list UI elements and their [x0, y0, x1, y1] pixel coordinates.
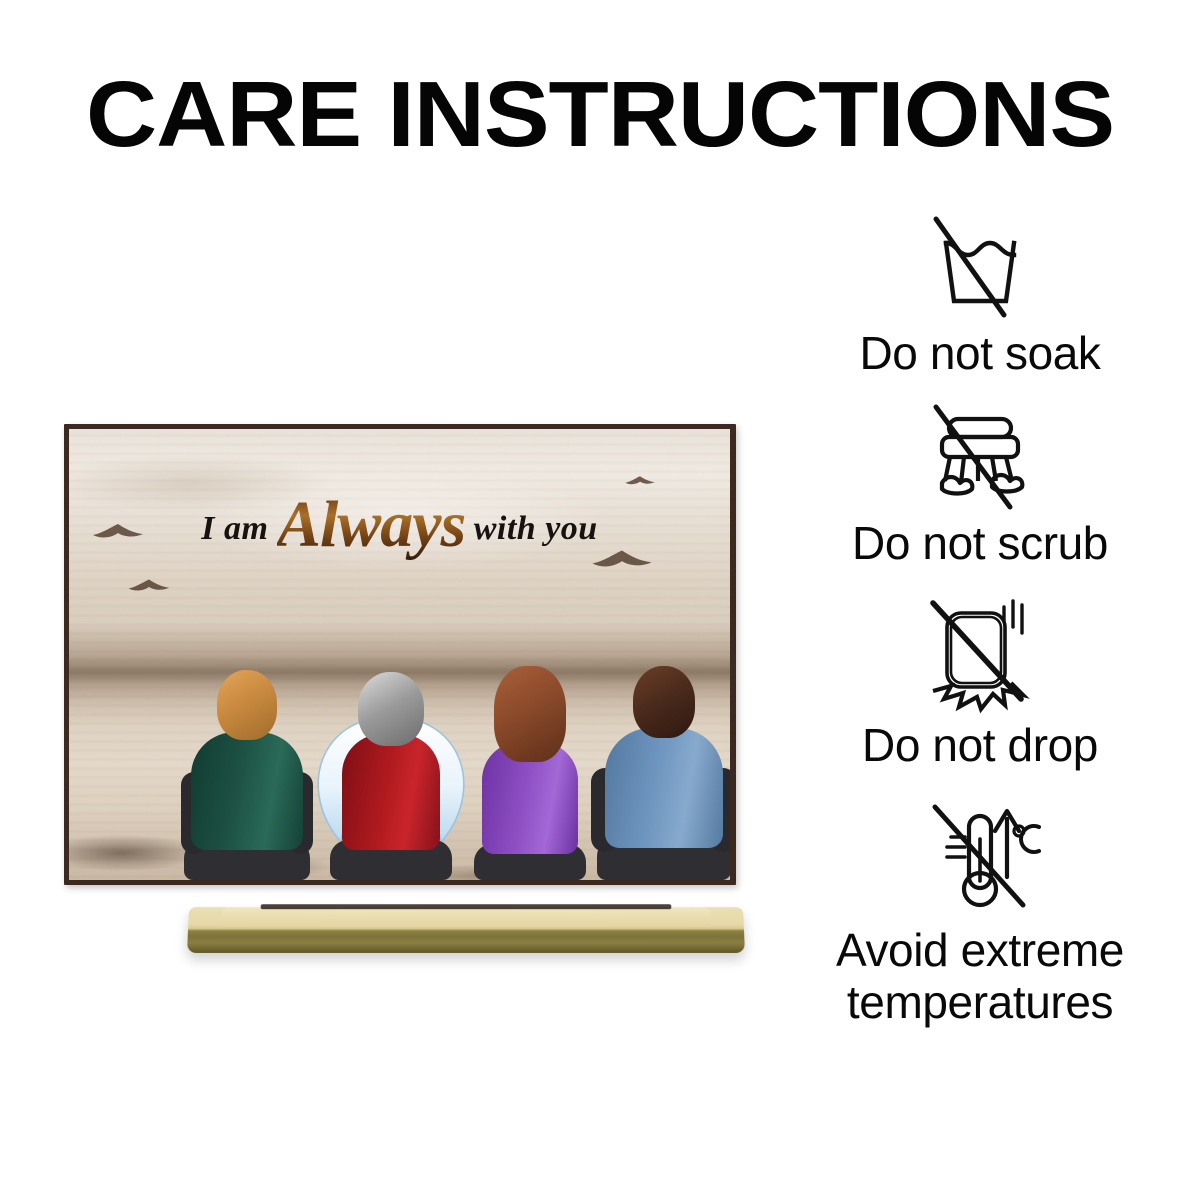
plaque-quote: I am Always with you	[69, 491, 730, 567]
quote-suffix: with you	[474, 510, 598, 547]
figure-mommy: Mommy	[321, 630, 461, 880]
base-slot	[261, 904, 671, 909]
plaque-frame: I am Always with you Charlie	[64, 424, 736, 885]
figure-shirt	[191, 732, 303, 850]
figure-sophia: Sophia	[465, 630, 595, 880]
no-scrub-icon	[918, 395, 1042, 513]
quote-highlight: Always	[277, 488, 465, 561]
care-label-line1: Avoid extreme	[760, 925, 1200, 977]
product-image: I am Always with you Charlie	[60, 424, 760, 984]
page-title: CARE INSTRUCTIONS	[0, 68, 1200, 161]
figure-shirt	[605, 728, 723, 848]
care-label: Do not scrub	[760, 519, 1200, 569]
care-instructions-sheet: CARE INSTRUCTIONS I am	[0, 0, 1200, 1200]
no-soak-icon	[920, 205, 1040, 323]
figure-head	[633, 666, 695, 738]
figure-shirt	[342, 734, 440, 850]
figure-head	[494, 666, 566, 762]
figure-head	[217, 670, 277, 740]
care-item-do-not-drop: Do not drop	[760, 587, 1200, 793]
care-item-do-not-soak: Do not soak	[760, 205, 1200, 395]
wooden-base	[187, 907, 745, 953]
plaque-artwork: I am Always with you Charlie	[69, 429, 730, 880]
figure-group: Charlie	[69, 590, 730, 880]
care-item-avoid-extreme-temperatures: Avoid extreme temperatures	[760, 793, 1200, 1003]
care-label-line2: temperatures	[760, 977, 1200, 1029]
quote-prefix: I am	[201, 510, 268, 547]
no-drop-icon	[917, 587, 1043, 715]
figure-david: David	[589, 630, 730, 880]
care-instruction-list: Do not soak Do not scrub	[760, 205, 1200, 1003]
care-label: Do not soak	[760, 329, 1200, 379]
bird-icon	[624, 474, 656, 488]
figure-head	[358, 672, 424, 746]
no-extreme-temperature-icon	[917, 793, 1043, 919]
care-label: Do not drop	[760, 721, 1200, 771]
care-label: Avoid extreme temperatures	[760, 925, 1200, 1028]
figure-charlie: Charlie	[177, 630, 317, 880]
care-item-do-not-scrub: Do not scrub	[760, 395, 1200, 587]
